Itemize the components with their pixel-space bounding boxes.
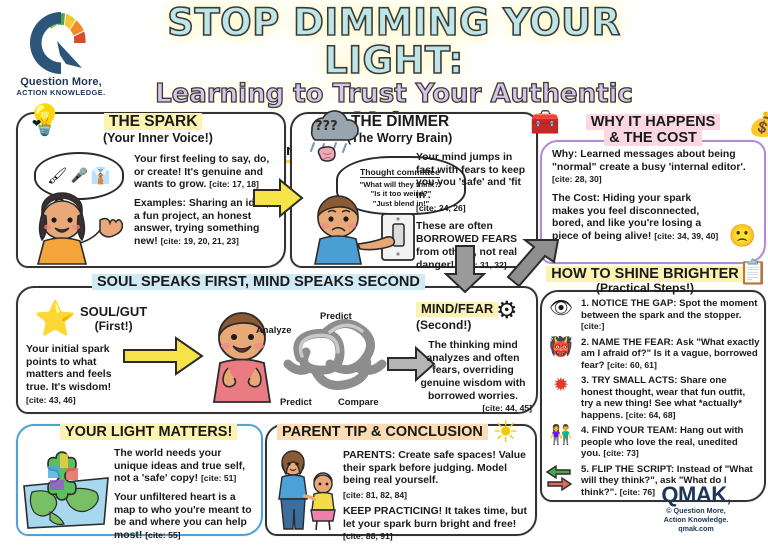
green-monster-icon: 👹 — [546, 337, 576, 357]
parent-cite-2: [cite: 88, 91] — [343, 531, 393, 541]
arrow-spark-to-dimmer — [252, 178, 304, 218]
parent-paragraph-2: KEEP PRACTICING! It takes time, but let … — [343, 506, 529, 544]
qmak-footer-line1: © Question More, — [636, 506, 756, 515]
shine-step-3-text: 3. TRY SMALL ACTS: Share one honest thou… — [581, 375, 760, 421]
soul-right-body: The thinking mind analyzes and often fea… — [414, 340, 532, 413]
worried-boy-light-switch-icon — [300, 192, 428, 264]
infographic-page: Question More, ACTION KNOWLEDGE. STOP DI… — [0, 0, 768, 539]
soul-heading: SOUL SPEAKS FIRST, MIND SPEAKS SECOND — [92, 274, 425, 290]
dimmer-paragraph-1: Your mind jumps in fast with fears to ke… — [416, 152, 532, 215]
dimmer-para2a: These are often — [416, 221, 493, 232]
panel-soul-speaks-first: SOUL SPEAKS FIRST, MIND SPEAKS SECOND ⭐ … — [16, 286, 538, 414]
spark-thought-bubble: 🖌 🎤 👔 — [34, 152, 124, 200]
dimmer-para1-text: Your mind jumps in fast with fears to ke… — [416, 152, 525, 201]
panel-parent-tip: PARENT TIP & CONCLUSION ☀ PARENTS: Cr — [265, 424, 537, 536]
red-splat-icon: ✹ — [546, 375, 576, 395]
treasure-chest-open-icon: 💰 — [748, 112, 768, 136]
soul-left-cite: [cite: 43, 46] — [26, 395, 130, 405]
shine-step-4-label: 4. FIND YOUR TEAM: — [581, 425, 677, 436]
knot-label-compare: Compare — [338, 396, 379, 407]
panel-how-to-shine-brighter: HOW TO SHINE BRIGHTER (Practical Steps!)… — [540, 290, 766, 502]
dimmer-cite-1: [cite: 24, 26] — [416, 203, 466, 213]
shine-step-4-text: 4. FIND YOUR TEAM: Hang out with people … — [581, 425, 760, 460]
parent-heading-block: PARENT TIP & CONCLUSION — [277, 424, 488, 440]
shine-steps-list: 👁 1. NOTICE THE GAP: Spot the moment bet… — [546, 298, 760, 502]
why-paragraph-2: The Cost: Hiding your spark makes you fe… — [552, 193, 720, 244]
panel-the-spark: THE SPARK (Your Inner Voice!) 💡 ❤ 🖌 🎤 👔 — [16, 112, 286, 268]
logo-text-line2: ACTION KNOWLEDGE. — [8, 88, 114, 97]
parent-heading: PARENT TIP & CONCLUSION — [277, 424, 488, 440]
parent-para1-label: PARENTS: — [343, 450, 395, 461]
panel-your-light-matters: YOUR LIGHT MATTERS! The world needs your… — [16, 424, 263, 536]
soul-left-sub: (First!) — [80, 319, 147, 333]
why-para2-label: The Cost: — [552, 193, 600, 204]
why-heading-line1: WHY IT HAPPENS — [586, 114, 721, 130]
spark-heading: THE SPARK — [104, 113, 202, 130]
why-cite-1: [cite: 28, 30] — [552, 174, 602, 184]
svg-text:???: ??? — [315, 119, 338, 134]
qmak-footer-mark: QMAK, — [636, 484, 756, 506]
why-heading-block: WHY IT HAPPENS & THE COST — [542, 114, 764, 146]
knot-label-analyze: Analyze — [256, 324, 291, 335]
two-people-icon: 👫 — [546, 425, 576, 445]
soul-left-body: Your initial spark points to what matter… — [26, 344, 130, 405]
shine-heading: HOW TO SHINE BRIGHTER — [546, 266, 743, 282]
knot-label-predict-2: Predict — [280, 396, 312, 407]
why-paragraph-1: Why: Learned messages about being "norma… — [552, 149, 757, 187]
parent-paragraph-1: PARENTS: Create safe spaces! Value their… — [343, 450, 529, 488]
spark-heading-block: THE SPARK (Your Inner Voice!) — [104, 113, 218, 145]
qmak-footer-line2: Action Knowledge. — [636, 515, 756, 524]
globe-puzzle-piece-icon — [20, 450, 112, 528]
soul-right-text: The thinking mind analyzes and often fea… — [414, 340, 532, 403]
shine-step-3[interactable]: ✹ 3. TRY SMALL ACTS: Share one honest th… — [546, 375, 760, 421]
shine-step-1-cite: [cite:] — [581, 321, 604, 331]
arrow-dimmer-to-soul — [444, 244, 486, 292]
shine-step-3-label: 3. TRY SMALL ACTS: — [581, 375, 677, 386]
paintbrush-icon: 🖌 — [47, 168, 67, 184]
shine-step-2-text: 2. NAME THE FEAR: Ask "What exactly am I… — [581, 337, 760, 372]
light-cite-1: [cite: 51] — [201, 473, 236, 483]
shine-step-2-label: 2. NAME THE FEAR: — [581, 337, 674, 348]
shine-heading-block: HOW TO SHINE BRIGHTER (Practical Steps!) — [540, 266, 750, 296]
shine-step-4-cite: [cite: 73] — [603, 448, 638, 458]
tangled-knot-icon — [286, 310, 394, 396]
rain-cloud-brain-icon: ??? — [298, 108, 370, 166]
soul-right-title: MIND/FEAR — [416, 302, 498, 317]
clothes-icon: 👔 — [91, 168, 111, 184]
qmak-footer: QMAK, © Question More, Action Knowledge.… — [636, 484, 756, 533]
light-heading: YOUR LIGHT MATTERS! — [60, 424, 237, 440]
page-title: STOP DIMMING YOUR LIGHT: — [114, 4, 674, 79]
qmak-logo-mark — [24, 6, 98, 80]
why-para1-text: Learned messages about being "normal" cr… — [552, 149, 746, 173]
shine-subheading: (Practical Steps!) — [540, 282, 750, 295]
qmak-footer-word: QMAK — [661, 482, 726, 507]
eye-icon: 👁 — [546, 298, 576, 318]
light-paragraph-2: Your unfiltered heart is a map to who yo… — [114, 492, 256, 543]
shine-step-2-cite: [cite: 60, 61] — [607, 360, 657, 370]
gear-icon: ⚙ — [496, 298, 518, 322]
soul-heading-block: SOUL SPEAKS FIRST, MIND SPEAKS SECOND — [92, 274, 425, 290]
spark-subheading: (Your Inner Voice!) — [98, 131, 218, 145]
shine-step-2[interactable]: 👹 2. NAME THE FEAR: Ask "What exactly am… — [546, 337, 760, 372]
panel-the-dimmer: THE DIMMER (The Worry Brain) ??? Thought… — [290, 112, 538, 268]
shine-step-1-text: 1. NOTICE THE GAP: Spot the moment betwe… — [581, 298, 760, 333]
light-para2-text: Your unfiltered heart is a map to who yo… — [114, 492, 252, 541]
knot-label-predict-1: Predict — [320, 310, 352, 321]
soul-left-text: Your initial spark points to what matter… — [26, 344, 130, 395]
swap-arrows-icon — [546, 464, 576, 487]
soul-right-titles: MIND/FEAR (Second!) — [416, 300, 498, 332]
parent-cite-1: [cite: 81, 82, 84] — [343, 490, 529, 500]
frowning-face-icon: 🙁 — [729, 226, 756, 248]
shine-step-4[interactable]: 👫 4. FIND YOUR TEAM: Hang out with peopl… — [546, 425, 760, 460]
shine-step-1[interactable]: 👁 1. NOTICE THE GAP: Spot the moment bet… — [546, 298, 760, 333]
sun-icon: ☀ — [492, 418, 519, 448]
panel-why-it-happens: WHY IT HAPPENS & THE COST 🧰 💰 Why: Learn… — [540, 140, 766, 264]
why-para1-label: Why: — [552, 149, 577, 160]
soul-yellow-arrow — [124, 336, 204, 376]
happy-boy-hands-on-heart-icon — [200, 306, 284, 402]
shine-step-1-label: 1. NOTICE THE GAP: — [581, 298, 676, 309]
microphone-icon: 🎤 — [70, 169, 87, 183]
star-icon: ⭐ — [34, 302, 76, 336]
qmak-footer-line3: qmak.com — [636, 524, 756, 533]
shine-step-3-cite: [cite: 64, 68] — [626, 410, 676, 420]
qmak-footer-comma: , — [727, 489, 731, 506]
why-body: Why: Learned messages about being "norma… — [552, 149, 757, 250]
why-cite-2: [cite: 34, 39, 40] — [654, 231, 718, 241]
qmak-logo: Question More, ACTION KNOWLEDGE. — [8, 6, 114, 97]
spark-cite-2: [cite: 19, 20, 21, 23] — [161, 236, 239, 246]
arrow-why-to-soul — [506, 236, 562, 290]
soul-left-titles: SOUL/GUT (First!) — [80, 304, 147, 333]
spark-heart-glyph: ❤ — [32, 118, 41, 129]
parent-para2-label: KEEP PRACTICING! — [343, 506, 442, 517]
treasure-chest-closed-icon: 🧰 — [530, 110, 560, 134]
girl-raising-hand-icon — [22, 196, 130, 264]
parent-body: PARENTS: Create safe spaces! Value their… — [343, 450, 529, 550]
light-paragraph-1: The world needs your unique ideas and tr… — [114, 448, 256, 486]
light-heading-block: YOUR LIGHT MATTERS! — [60, 424, 237, 440]
why-heading-line2: & THE COST — [604, 130, 702, 146]
soul-right-cite: [cite: 44, 45] — [414, 403, 532, 413]
soul-right-sub: (Second!) — [416, 318, 498, 332]
light-body: The world needs your unique ideas and tr… — [114, 448, 256, 549]
clipboard-checklist-icon: 📋 — [738, 260, 768, 284]
shine-step-5-label: 5. FLIP THE SCRIPT: — [581, 464, 674, 475]
parent-and-child-icon — [269, 448, 341, 532]
soul-left-title: SOUL/GUT — [80, 304, 147, 319]
